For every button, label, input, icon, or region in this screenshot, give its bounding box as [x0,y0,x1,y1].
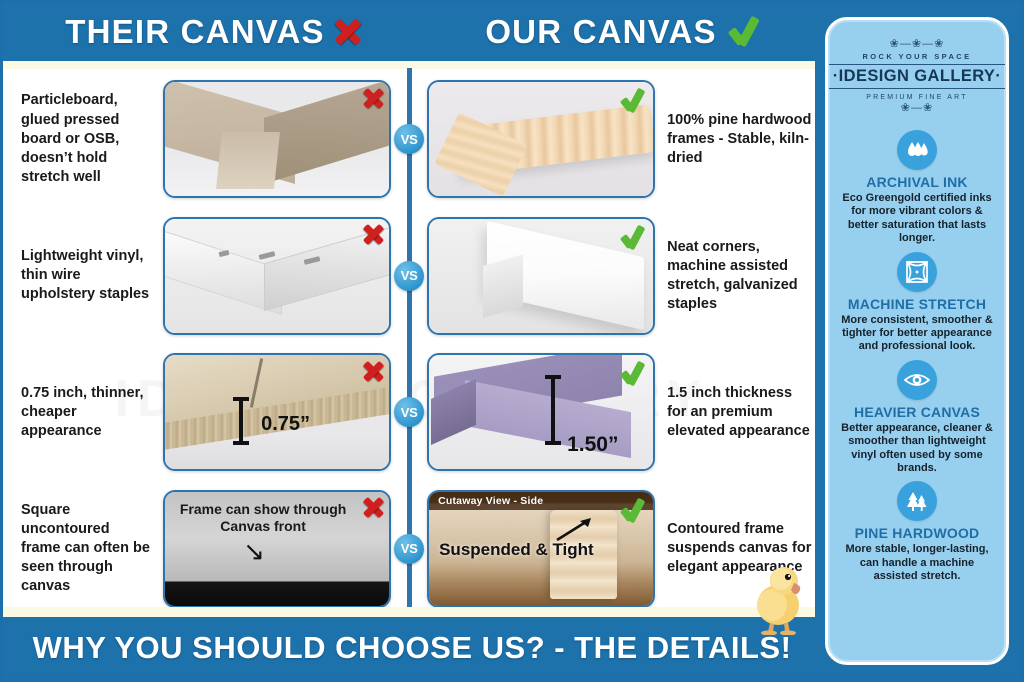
photo-art [165,355,389,469]
vs-divider: VS [391,74,427,205]
their-thickness-label: 0.75” [261,413,310,436]
rough-vinyl-corner-photo [163,217,391,335]
feature-pine-hardwood: PINE HARDWOOD More stable, longer-lastin… [836,481,998,583]
caption-line-1: Frame can show through [180,501,346,517]
comparison-row: Particleboard, glued pressed board or OS… [3,71,821,208]
vs-badge: VS [394,124,424,154]
feature-description: More consistent, smoother & tighter for … [836,314,998,354]
check-mark-icon [620,498,647,524]
footer-headline: WHY YOU SHOULD CHOOSE US? - THE DETAILS! [33,630,792,666]
feature-description: More stable, longer-lasting, can handle … [836,543,998,583]
feature-title: ARCHIVAL INK [866,174,967,190]
feature-description: Eco Greengold certified inks for more vi… [836,192,998,246]
caption-line-2: Canvas front [220,518,306,534]
photo-art [165,219,389,333]
their-canvas-label: THEIR CANVAS [65,13,324,51]
our-text-3: 1.5 inch thickness for an premium elevat… [655,384,821,441]
check-mark-icon [620,88,647,114]
feature-title: PINE HARDWOOD [855,525,980,541]
their-text-2: Lightweight vinyl, thin wire upholstery … [3,247,161,304]
water-drops-icon [897,130,937,170]
feature-heavier-canvas: HEAVIER CANVAS Better appearance, cleane… [836,360,998,476]
thick-purple-canvas-edge-photo: 1.50” [427,353,655,471]
feature-title: MACHINE STRETCH [848,296,986,312]
footer-bar: WHY YOU SHOULD CHOOSE US? - THE DETAILS! [3,617,821,679]
logo-tagline-top: ROCK YOUR SPACE [862,52,971,61]
particleboard-frame-corner-photo [163,80,391,198]
x-mark-icon [363,225,383,245]
stretched-canvas-icon [897,252,937,292]
dimension-bar [551,375,555,445]
vs-divider: VS [391,347,427,478]
vs-badge: VS [394,534,424,564]
x-mark-icon [335,19,361,45]
frame-show-caption: Frame can show through Canvas front [173,501,353,535]
feature-machine-stretch: MACHINE STRETCH More consistent, smoothe… [836,252,998,354]
logo-ornament-bottom-icon: ❀—❀ [901,101,933,114]
their-text-3: 0.75 inch, thinner, cheaper appearance [3,384,161,441]
photo-art [165,82,389,196]
pine-hardwood-frame-corner-photo [427,80,655,198]
pointer-arrow-icon [555,516,595,542]
feature-title: HEAVIER CANVAS [854,404,980,420]
frame-show-through-photo: Frame can show through Canvas front ↘ [163,490,391,608]
their-text-4: Square uncontoured frame can often be se… [3,501,161,597]
logo-tagline-bottom: PREMIUM FINE ART [866,94,968,101]
comparison-grid: IDESIGN GALLERY Particleboard, glued pre… [3,69,821,617]
our-canvas-label: OUR CANVAS [485,13,716,51]
infographic-page: THEIR CANVAS OUR CANVAS IDESIGN GALLERY … [0,0,1024,682]
x-mark-icon [363,498,383,518]
our-thickness-label: 1.50” [567,433,618,457]
logo-ornament-icon: ❀—❀—❀ [890,37,945,50]
comparison-row: Lightweight vinyl, thin wire upholstery … [3,208,821,345]
down-arrow-icon: ↘ [243,538,265,564]
check-mark-icon [620,225,647,251]
dimension-bar [239,397,243,445]
brand-logo: ❀—❀—❀ ROCK YOUR SPACE ·IDESIGN GALLERY· … [836,26,998,124]
feature-description: Better appearance, cleaner & smoother th… [836,422,998,476]
suspended-tight-caption: Suspended & Tight [439,540,594,560]
duckling-mascot [748,555,810,635]
sidebar-background: ❀—❀—❀ ROCK YOUR SPACE ·IDESIGN GALLERY· … [815,3,1021,679]
their-canvas-heading: THEIR CANVAS [65,13,360,51]
comparison-row: 0.75 inch, thinner, cheaper appearance 0… [3,344,821,481]
our-text-1: 100% pine hardwood frames - Stable, kiln… [655,111,821,168]
vs-badge: VS [394,261,424,291]
neat-white-corner-photo [427,217,655,335]
our-canvas-heading: OUR CANVAS [485,13,760,51]
brand-sidebar: ❀—❀—❀ ROCK YOUR SPACE ·IDESIGN GALLERY· … [825,17,1009,665]
vs-badge: VS [394,397,424,427]
pine-trees-icon [897,481,937,521]
check-mark-icon [727,16,761,48]
thin-particleboard-edge-photo: 0.75” [163,353,391,471]
header-inner: THEIR CANVAS OUR CANVAS [3,3,823,61]
eye-icon [897,360,937,400]
footer-cream-strip [3,607,821,617]
their-text-1: Particleboard, glued pressed board or OS… [3,91,161,187]
comparison-row: Square uncontoured frame can often be se… [3,481,821,618]
x-mark-icon [363,361,383,381]
x-mark-icon [363,88,383,108]
vs-divider: VS [391,211,427,342]
cutaway-side-view-photo: Cutaway View - Side Suspended & Tight [427,490,655,608]
check-mark-icon [620,361,647,387]
vs-divider: VS [391,484,427,615]
our-text-2: Neat corners, machine assisted stretch, … [655,238,821,315]
feature-archival-ink: ARCHIVAL INK Eco Greengold certified ink… [836,130,998,246]
logo-name: ·IDESIGN GALLERY· [829,64,1005,89]
